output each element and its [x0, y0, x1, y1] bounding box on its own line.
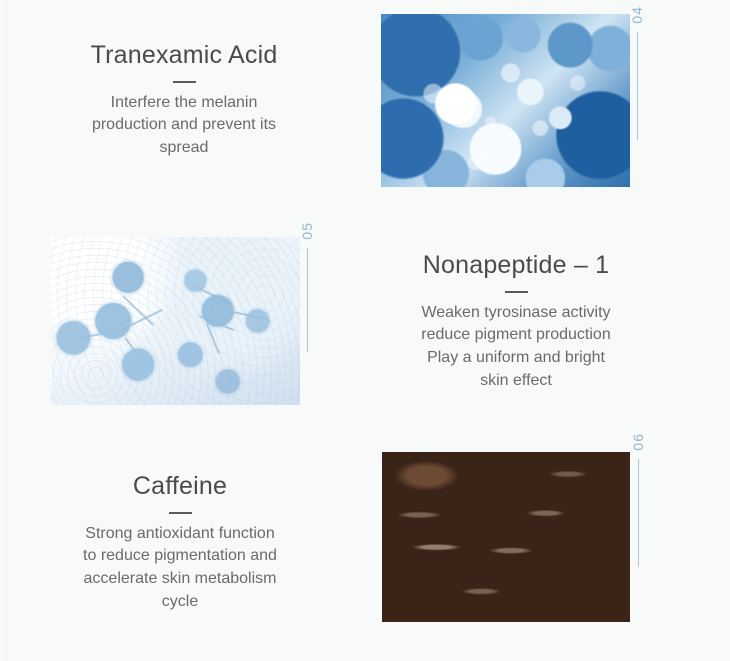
nonapeptide-1-text-block: Nonapeptide – 1 Weaken tyrosinase activi…	[370, 252, 662, 392]
index-accent-line	[637, 32, 638, 140]
body-line: Weaken tyrosinase activity	[370, 302, 662, 325]
caffeine-text-block: Caffeine Strong antioxidant function to …	[30, 473, 330, 613]
caffeine-body: Strong antioxidant function to reduce pi…	[30, 523, 330, 614]
molecule-artwork	[51, 237, 300, 405]
molecule-bond	[79, 330, 117, 339]
section-index-number: 06	[631, 433, 645, 451]
nonapeptide-1-heading: Nonapeptide – 1	[370, 252, 662, 280]
section-index-marker-06: 06	[631, 433, 645, 567]
tranexamic-acid-text-block: Tranexamic Acid Interfere the melanin pr…	[34, 42, 334, 160]
section-index-marker-05: 05	[300, 222, 314, 352]
index-accent-line	[638, 459, 639, 567]
molecule-bond	[206, 324, 220, 354]
blue-bubbles-photo	[381, 14, 630, 187]
section-index-number: 05	[300, 222, 314, 240]
body-line: Strong antioxidant function	[30, 523, 330, 546]
body-line: Play a uniform and bright	[370, 347, 662, 370]
page-left-edge-rule	[4, 0, 5, 661]
heading-divider-dash	[169, 512, 192, 514]
tranexamic-acid-body: Interfere the melanin production and pre…	[34, 92, 334, 160]
section-index-number: 04	[630, 6, 644, 24]
blue-bubbles-artwork	[381, 14, 630, 187]
body-line: Interfere the melanin	[34, 92, 334, 115]
nonapeptide-1-body: Weaken tyrosinase activity reduce pigmen…	[370, 302, 662, 393]
coffee-beans-artwork	[382, 452, 630, 622]
molecule-photo	[51, 237, 300, 405]
molecule-bond	[194, 285, 233, 305]
body-line: skin effect	[370, 370, 662, 393]
body-line: cycle	[30, 591, 330, 614]
molecule-bond	[199, 315, 235, 331]
molecule-bond	[121, 309, 163, 331]
caffeine-heading: Caffeine	[30, 473, 330, 501]
molecule-bond	[124, 337, 148, 367]
molecule-bond	[233, 311, 267, 320]
body-line: spread	[34, 137, 334, 160]
heading-divider-dash	[173, 81, 196, 83]
coffee-beans-photo	[382, 452, 630, 622]
body-line: reduce pigment production	[370, 324, 662, 347]
tranexamic-acid-heading: Tranexamic Acid	[34, 42, 334, 70]
section-index-marker-04: 04	[630, 6, 644, 140]
body-line: to reduce pigmentation and	[30, 545, 330, 568]
index-accent-line	[307, 248, 308, 352]
page-left-edge-rule-secondary	[7, 0, 8, 661]
body-line: production and prevent its	[34, 114, 334, 137]
heading-divider-dash	[505, 291, 528, 293]
body-line: accelerate skin metabolism	[30, 568, 330, 591]
molecule-bond	[122, 295, 154, 326]
